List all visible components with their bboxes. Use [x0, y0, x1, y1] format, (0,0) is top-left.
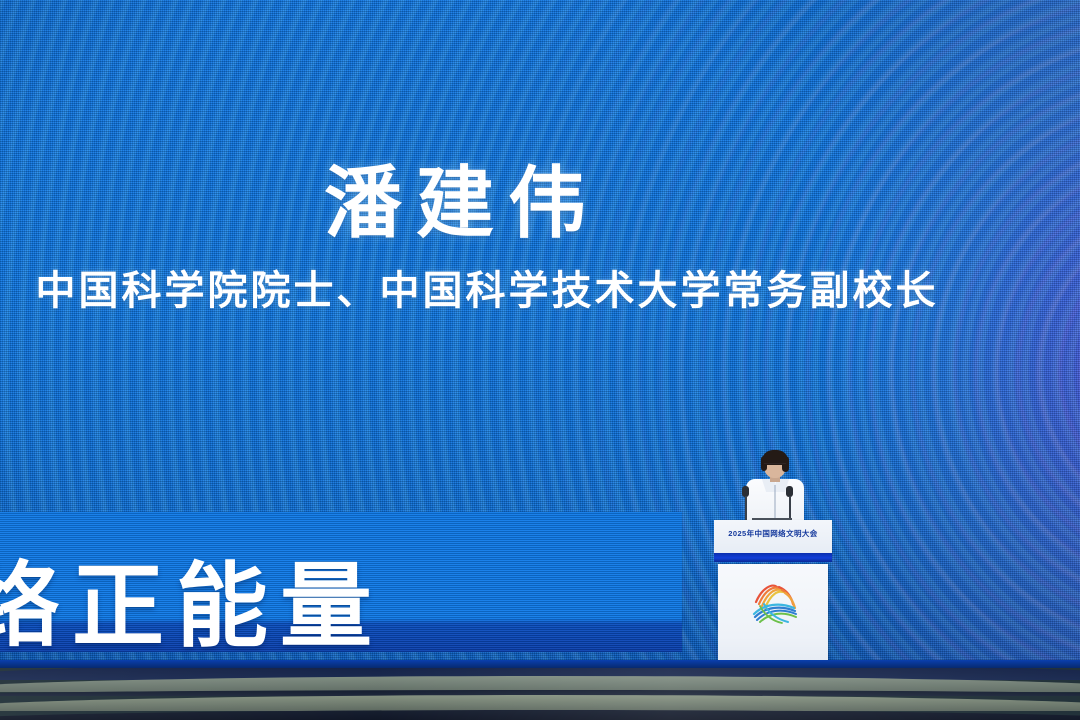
glasses-icon — [764, 463, 786, 469]
podium-event-title: 2025年中国网络文明大会 — [714, 528, 832, 539]
speaker-shirt-placket — [774, 485, 776, 519]
speaker-name-heading: 潘建伟 — [0, 160, 910, 247]
podium-front-panel — [718, 564, 828, 668]
stage-floor-sheen — [0, 668, 1080, 720]
slogan-text: 络正能量 — [0, 532, 488, 665]
stage-floor — [0, 668, 1080, 720]
speaker-figure — [744, 452, 806, 524]
china-internet-civilization-conference-logo — [746, 580, 802, 624]
speaker-title-subheading: 中国科学院院士、中国科学技术大学常务副校长 — [22, 268, 952, 314]
microphone-left-stem — [745, 496, 747, 522]
podium-blue-stripe — [714, 553, 832, 562]
podium: 2025年中国网络文明大会 — [714, 520, 832, 668]
conference-stage-photo: 潘建伟 中国科学院院士、中国科学技术大学常务副校长 络正能量 2025年中国网络… — [0, 0, 1080, 720]
